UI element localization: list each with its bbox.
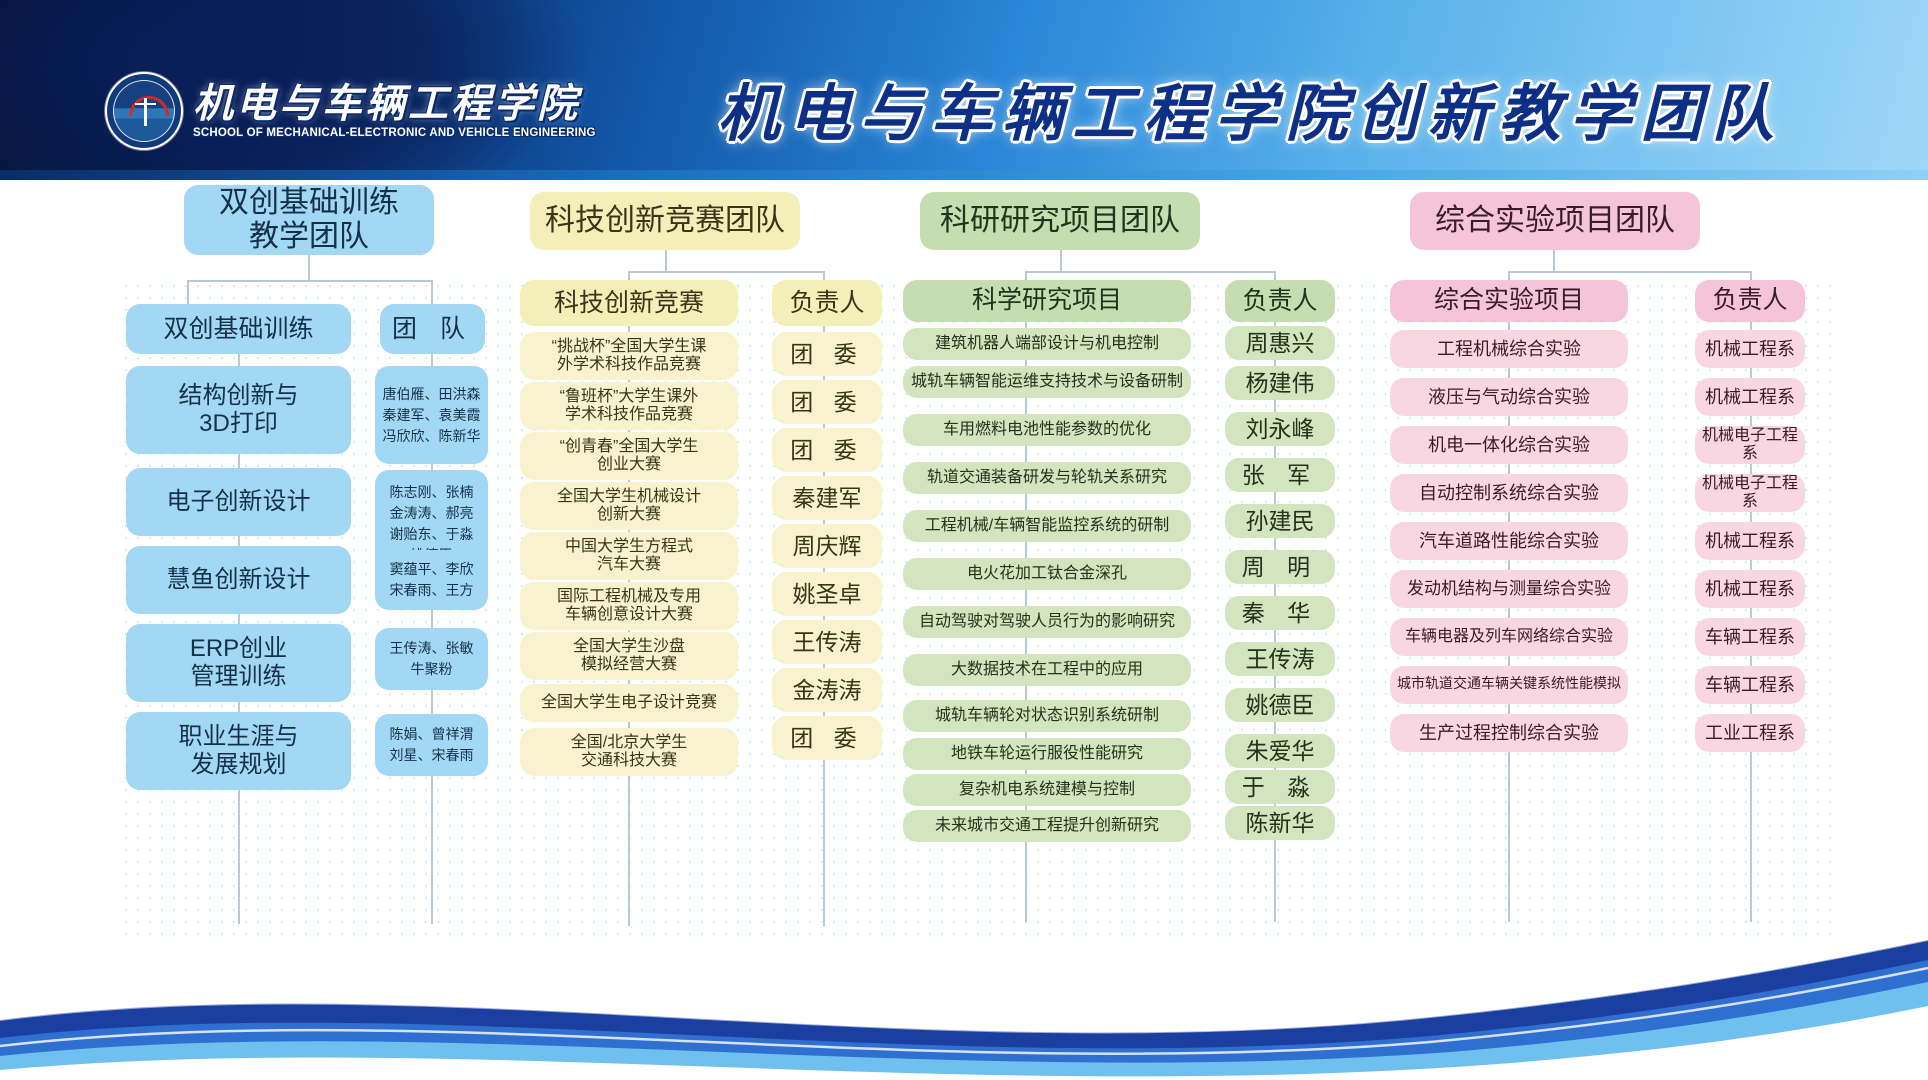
org-chart-stage: 双创基础训练 教学团队 双创基础训练 团 队 结构创新与 3D打印 唐伯雁、田洪… bbox=[0, 180, 1928, 1080]
col1-row-1-item: 电子创新设计 bbox=[126, 468, 351, 536]
col2-row-8-line2: 交通科技大赛 bbox=[581, 752, 677, 770]
col2-row-1-person: 团 委 bbox=[772, 380, 882, 424]
col2-row-4-item: 中国大学生方程式 汽车大赛 bbox=[520, 532, 738, 580]
col3-row-6-person: 秦 华 bbox=[1225, 596, 1335, 630]
col1-row-0-names: 唐伯雁、田洪森 秦建军、袁美霞 冯欣欣、陈新华 bbox=[375, 366, 488, 464]
col2-row-6-line2: 模拟经营大赛 bbox=[581, 656, 677, 674]
col1-title-line1: 双创基础训练 bbox=[219, 186, 399, 221]
col3-row-8-person: 姚德臣 bbox=[1225, 688, 1335, 722]
school-logo: 机电与车辆工程学院 SCHOOL OF MECHANICAL-ELECTRONI… bbox=[105, 72, 596, 150]
header-banner: 机电与车辆工程学院 SCHOOL OF MECHANICAL-ELECTRONI… bbox=[0, 0, 1928, 180]
col3-row-9-person: 朱爱华 bbox=[1225, 734, 1335, 768]
col4-row-6-person: 车辆工程系 bbox=[1695, 618, 1805, 656]
col2-row-6-item: 全国大学生沙盘 模拟经营大赛 bbox=[520, 632, 738, 680]
col2-row-4-line1: 中国大学生方程式 bbox=[565, 538, 693, 556]
col3-row-2-person: 刘永峰 bbox=[1225, 412, 1335, 446]
col1-row-2-names: 窦蕴平、李欣 宋春雨、王方 bbox=[375, 550, 488, 610]
col3-row-5-item: 电火花加工钛合金深孔 bbox=[903, 558, 1191, 590]
col3-row-10-item: 复杂机电系统建模与控制 bbox=[903, 774, 1191, 806]
col3-row-2-item: 车用燃料电池性能参数的优化 bbox=[903, 414, 1191, 446]
col3-header-left: 科学研究项目 bbox=[903, 280, 1191, 322]
col4-row-5-person: 机械工程系 bbox=[1695, 570, 1805, 608]
col2-header-left: 科技创新竞赛 bbox=[520, 280, 738, 326]
col4-row-4-person: 机械工程系 bbox=[1695, 522, 1805, 560]
col2-row-3-item: 全国大学生机械设计 创新大赛 bbox=[520, 482, 738, 530]
col1-row-2-item: 慧鱼创新设计 bbox=[126, 546, 351, 614]
col4-row-8-item: 生产过程控制综合实验 bbox=[1390, 714, 1628, 752]
col2-row-1-line1: “鲁班杯”大学生课外 bbox=[560, 388, 699, 406]
col1-row-0-line2: 3D打印 bbox=[199, 410, 278, 438]
col2-row-2-item: “创青春”全国大学生 创业大赛 bbox=[520, 432, 738, 480]
col1-row-3-item: ERP创业 管理训练 bbox=[126, 624, 351, 702]
col3-row-11-item: 未来城市交通工程提升创新研究 bbox=[903, 810, 1191, 842]
col4-row-3-person: 机械电子工程系 bbox=[1695, 474, 1805, 512]
col2-row-2-person: 团 委 bbox=[772, 428, 882, 472]
col2-row-7-person: 金涛涛 bbox=[772, 668, 882, 712]
col4-header-right: 负责人 bbox=[1695, 280, 1805, 322]
col3-title: 科研研究项目团队 bbox=[920, 192, 1200, 250]
col2-row-8-line1: 全国/北京大学生 bbox=[571, 734, 687, 752]
col3-row-10-person: 于 淼 bbox=[1225, 770, 1335, 804]
col4-row-7-person: 车辆工程系 bbox=[1695, 666, 1805, 704]
col3-row-1-item: 城轨车辆智能运维支持技术与设备研制 bbox=[903, 366, 1191, 398]
col1-header-left: 双创基础训练 bbox=[126, 304, 351, 354]
col1-row-4-names: 陈娟、曾祥渭 刘星、宋春雨 bbox=[375, 714, 488, 776]
col4-row-1-person: 机械工程系 bbox=[1695, 378, 1805, 416]
col2-row-3-line2: 创新大赛 bbox=[597, 506, 661, 524]
col2-row-5-item: 国际工程机械及专用 车辆创意设计大赛 bbox=[520, 582, 738, 630]
col3-row-6-item: 自动驾驶对驾驶人员行为的影响研究 bbox=[903, 606, 1191, 638]
col3-row-3-person: 张 军 bbox=[1225, 458, 1335, 492]
col1-title: 双创基础训练 教学团队 bbox=[184, 185, 434, 255]
col1-header-right: 团 队 bbox=[380, 304, 485, 354]
logo-english-name: SCHOOL OF MECHANICAL-ELECTRONIC AND VEHI… bbox=[193, 127, 596, 139]
col2-row-2-line1: “创青春”全国大学生 bbox=[560, 438, 699, 456]
logo-chinese-name: 机电与车辆工程学院 bbox=[193, 83, 596, 125]
col2-row-5-line2: 车辆创意设计大赛 bbox=[565, 606, 693, 624]
col3-row-8-item: 城轨车辆轮对状态识别系统研制 bbox=[903, 700, 1191, 732]
col2-row-2-line2: 创业大赛 bbox=[597, 456, 661, 474]
col2-row-3-person: 秦建军 bbox=[772, 476, 882, 520]
col4-header-left: 综合实验项目 bbox=[1390, 280, 1628, 322]
col4-row-6-item: 车辆电器及列车网络综合实验 bbox=[1390, 618, 1628, 656]
col4-row-5-item: 发动机结构与测量综合实验 bbox=[1390, 570, 1628, 608]
col3-row-11-person: 陈新华 bbox=[1225, 806, 1335, 840]
col4-row-3-item: 自动控制系统综合实验 bbox=[1390, 474, 1628, 512]
col2-row-5-person: 姚圣卓 bbox=[772, 572, 882, 616]
col2-row-8-item: 全国/北京大学生 交通科技大赛 bbox=[520, 728, 738, 776]
decorative-waves bbox=[0, 870, 1928, 1080]
col2-row-1-line2: 学术科技作品竞赛 bbox=[565, 406, 693, 424]
col1-title-line2: 教学团队 bbox=[249, 220, 369, 255]
col1-row-3-names: 王传涛、张敏 牛聚粉 bbox=[375, 628, 488, 690]
col1-row-4-line2: 发展规划 bbox=[191, 751, 287, 779]
col2-row-0-person: 团 委 bbox=[772, 332, 882, 376]
col1-row-4-item: 职业生涯与 发展规划 bbox=[126, 712, 351, 790]
col2-row-7-item: 全国大学生电子设计竞赛 bbox=[520, 684, 738, 722]
col2-row-3-line1: 全国大学生机械设计 bbox=[557, 488, 701, 506]
col4-row-8-person: 工业工程系 bbox=[1695, 714, 1805, 752]
page-title: 机电与车辆工程学院创新教学团队 bbox=[660, 66, 1840, 150]
col2-row-0-item: “挑战杯”全国大学生课 外学术科技作品竞赛 bbox=[520, 332, 738, 380]
col2-row-1-item: “鲁班杯”大学生课外 学术科技作品竞赛 bbox=[520, 382, 738, 430]
col3-row-4-person: 孙建民 bbox=[1225, 504, 1335, 538]
col1-row-3-line2: 管理训练 bbox=[191, 663, 287, 691]
col4-row-2-item: 机电一体化综合实验 bbox=[1390, 426, 1628, 464]
col3-row-9-item: 地铁车轮运行服役性能研究 bbox=[903, 738, 1191, 770]
col2-header-right: 负责人 bbox=[772, 280, 882, 326]
col2-row-4-line2: 汽车大赛 bbox=[597, 556, 661, 574]
col3-row-0-item: 建筑机器人端部设计与机电控制 bbox=[903, 328, 1191, 360]
col3-row-1-person: 杨建伟 bbox=[1225, 366, 1335, 400]
col2-row-4-person: 周庆辉 bbox=[772, 524, 882, 568]
col3-row-4-item: 工程机械/车辆智能监控系统的研制 bbox=[903, 510, 1191, 542]
col4-row-2-person: 机械电子工程系 bbox=[1695, 426, 1805, 464]
col3-row-0-person: 周惠兴 bbox=[1225, 326, 1335, 360]
col4-row-0-item: 工程机械综合实验 bbox=[1390, 330, 1628, 368]
col1-row-3-line1: ERP创业 bbox=[190, 635, 287, 663]
col3-row-5-person: 周 明 bbox=[1225, 550, 1335, 584]
col3-row-7-person: 王传涛 bbox=[1225, 642, 1335, 676]
col1-row-0-item: 结构创新与 3D打印 bbox=[126, 366, 351, 454]
col2-row-0-line1: “挑战杯”全国大学生课 bbox=[552, 338, 707, 356]
col4-row-4-item: 汽车道路性能综合实验 bbox=[1390, 522, 1628, 560]
col4-title: 综合实验项目团队 bbox=[1410, 192, 1700, 250]
col4-row-1-item: 液压与气动综合实验 bbox=[1390, 378, 1628, 416]
col4-row-0-person: 机械工程系 bbox=[1695, 330, 1805, 368]
col2-row-8-person: 团 委 bbox=[772, 716, 882, 760]
col2-row-0-line2: 外学术科技作品竞赛 bbox=[557, 356, 701, 374]
col4-row-7-item: 城市轨道交通车辆关键系统性能模拟 bbox=[1390, 666, 1628, 704]
col2-row-5-line1: 国际工程机械及专用 bbox=[557, 588, 701, 606]
col1-row-4-line1: 职业生涯与 bbox=[179, 723, 299, 751]
col3-row-3-item: 轨道交通装备研发与轮轨关系研究 bbox=[903, 462, 1191, 494]
col3-header-right: 负责人 bbox=[1225, 280, 1335, 322]
col2-row-6-person: 王传涛 bbox=[772, 620, 882, 664]
col3-row-7-item: 大数据技术在工程中的应用 bbox=[903, 654, 1191, 686]
seal-emblem-icon bbox=[105, 72, 183, 150]
col1-row-0-line1: 结构创新与 bbox=[179, 382, 299, 410]
col2-title: 科技创新竞赛团队 bbox=[530, 192, 800, 250]
col2-row-6-line1: 全国大学生沙盘 bbox=[573, 638, 685, 656]
